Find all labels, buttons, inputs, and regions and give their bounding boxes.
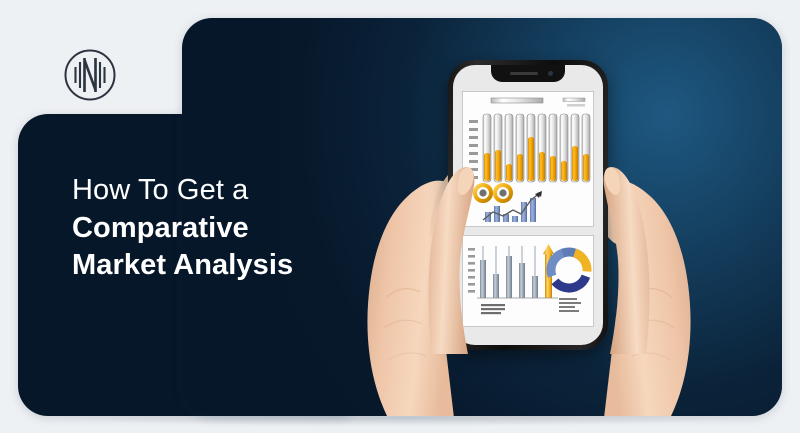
page-title: How To Get a Comparative Market Analysis — [72, 172, 293, 285]
right-hand-fingers-foreground — [598, 114, 652, 354]
n-monogram-circle-logo-icon[interactable] — [63, 48, 117, 102]
column-and-donut-dashboard-panel — [462, 235, 594, 327]
title-line-1: How To Get a — [72, 172, 293, 210]
hero-photo-hands-with-phone — [340, 18, 740, 416]
title-line-2: Comparative — [72, 210, 293, 248]
front-camera-icon — [548, 71, 553, 76]
banner-canvas: How To Get a Comparative Market Analysis — [0, 0, 800, 433]
title-line-3: Market Analysis — [72, 247, 293, 285]
left-hand-fingers-foreground — [426, 114, 480, 354]
phone-notch — [491, 65, 565, 82]
bar-gauge-dashboard-panel — [462, 91, 594, 227]
earpiece-speaker-icon — [510, 72, 538, 75]
